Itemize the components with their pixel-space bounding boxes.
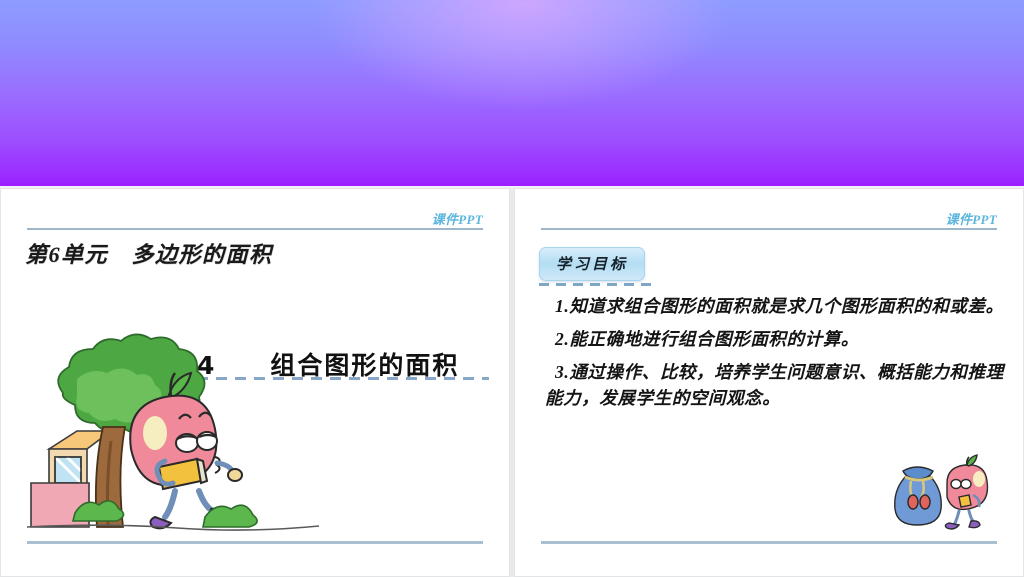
ppt-tag-label: 课件PPT [432, 209, 483, 228]
footer-rule [541, 541, 997, 544]
apple-sack-illustration [889, 453, 1007, 531]
slide-panels: 课件PPT 第6单元 多边形的面积 4 组合图形的面积 [0, 188, 1024, 577]
header-rule [541, 228, 997, 230]
list-item: 3.通过操作、比较，培养学生问题意识、概括能力和推理能力，发展学生的空间观念。 [545, 359, 1005, 411]
banner-bottom-edge [0, 183, 1024, 186]
slide-panel-title[interactable]: 课件PPT 第6单元 多边形的面积 4 组合图形的面积 [0, 188, 510, 577]
header-rule [27, 228, 483, 230]
footer-rule [27, 541, 483, 544]
learning-objectives-list: 1.知道求组合图形的面积就是求几个图形面积的和或差。 2.能正确地进行组合图形面… [545, 293, 1005, 418]
slide-screen: 课件PPT 第6单元 多边形的面积 4 组合图形的面积 [0, 0, 1024, 577]
ppt-tag-label: 课件PPT [946, 209, 997, 228]
slide-panel-objectives[interactable]: 课件PPT 学习目标 1.知道求组合图形的面积就是求几个图形面积的和或差。 2.… [514, 188, 1024, 577]
list-item: 1.知道求组合图形的面积就是求几个图形面积的和或差。 [545, 293, 1005, 319]
list-item: 2.能正确地进行组合图形面积的计算。 [545, 326, 1005, 352]
badge-dashed-underline [539, 283, 657, 286]
unit-title: 第6单元 多边形的面积 [25, 237, 273, 269]
header-gradient-banner [0, 0, 1024, 186]
apple-tree-illustration [19, 331, 339, 543]
learning-objectives-badge: 学习目标 [539, 247, 645, 281]
